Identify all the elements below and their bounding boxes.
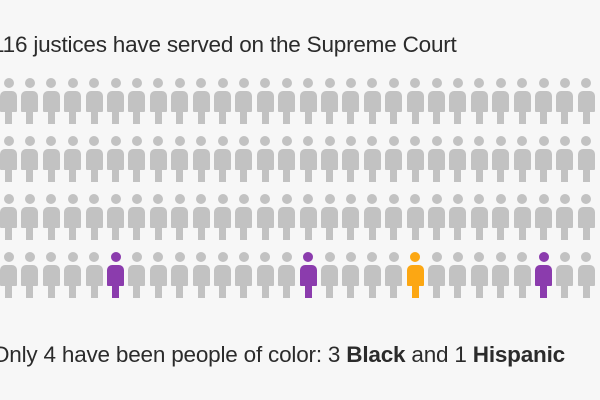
- figure-legs: [305, 167, 312, 182]
- figure-head: [132, 252, 142, 262]
- figure-legs: [283, 225, 290, 240]
- figure-legs: [91, 283, 98, 298]
- figure-legs: [69, 167, 76, 182]
- figure-head: [46, 78, 56, 88]
- figure-legs: [390, 109, 397, 124]
- pictogram-figure: [43, 136, 60, 188]
- pictogram-figure: [107, 78, 124, 130]
- pictogram-figure: [556, 136, 573, 188]
- pictogram-figure: [449, 78, 466, 130]
- figure-legs: [219, 167, 226, 182]
- figure-legs: [497, 109, 504, 124]
- pictogram-figure: [128, 136, 145, 188]
- pictogram-figure: [385, 78, 402, 130]
- pictogram-figure: [21, 252, 38, 304]
- pictogram-figure: [214, 136, 231, 188]
- pictogram-figure: [556, 194, 573, 246]
- figure-legs: [390, 167, 397, 182]
- pictogram-figure: [321, 136, 338, 188]
- figure-head: [25, 136, 35, 146]
- figure-legs: [519, 109, 526, 124]
- pictogram-figure: [449, 252, 466, 304]
- figure-head: [517, 136, 527, 146]
- pictogram-figure: [0, 78, 17, 130]
- pictogram-figure: [514, 194, 531, 246]
- pictogram-figure: [64, 252, 81, 304]
- pictogram-figure: [107, 194, 124, 246]
- figure-legs: [390, 225, 397, 240]
- pictogram-figure: [0, 252, 17, 304]
- figure-legs: [198, 109, 205, 124]
- figure-legs: [69, 109, 76, 124]
- caption-middle: and 1: [405, 342, 472, 367]
- figure-legs: [133, 225, 140, 240]
- figure-legs: [454, 225, 461, 240]
- figure-head: [196, 136, 206, 146]
- figure-head: [453, 252, 463, 262]
- figure-head: [346, 78, 356, 88]
- pictogram-figure: [492, 78, 509, 130]
- pictogram-figure: [385, 136, 402, 188]
- figure-head: [560, 136, 570, 146]
- figure-legs: [133, 283, 140, 298]
- figure-head: [260, 194, 270, 204]
- figure-legs: [262, 283, 269, 298]
- figure-legs: [155, 109, 162, 124]
- pictogram-figure: [107, 252, 124, 304]
- figure-head: [474, 252, 484, 262]
- figure-legs: [433, 167, 440, 182]
- figure-legs: [433, 283, 440, 298]
- figure-head: [196, 194, 206, 204]
- figure-legs: [48, 167, 55, 182]
- figure-head: [111, 194, 121, 204]
- figure-legs: [583, 167, 590, 182]
- pictogram-figure: [407, 194, 424, 246]
- pictogram-figure: [193, 136, 210, 188]
- pictogram-figure: [128, 78, 145, 130]
- figure-head: [367, 252, 377, 262]
- pictogram-figure: [578, 252, 595, 304]
- figure-head: [4, 252, 14, 262]
- pictogram-figure: [86, 252, 103, 304]
- legend-label-black: Black: [346, 342, 405, 367]
- figure-legs: [454, 283, 461, 298]
- caption-prefix: Only 4 have been people of color: 3: [0, 342, 346, 367]
- figure-legs: [305, 109, 312, 124]
- pictogram-figure: [407, 252, 424, 304]
- pictogram-figure: [193, 252, 210, 304]
- figure-head: [196, 252, 206, 262]
- figure-legs: [561, 109, 568, 124]
- figure-head: [560, 194, 570, 204]
- pictogram-figure: [235, 194, 252, 246]
- figure-legs: [198, 283, 205, 298]
- pictogram-figure: [0, 136, 17, 188]
- pictogram-figure: [171, 194, 188, 246]
- pictogram-figure: [150, 136, 167, 188]
- figure-head: [325, 78, 335, 88]
- pictogram-figure: [43, 78, 60, 130]
- figure-legs: [198, 225, 205, 240]
- figure-head: [389, 194, 399, 204]
- pictogram-figure: [171, 136, 188, 188]
- figure-legs: [412, 283, 419, 298]
- figure-head: [539, 194, 549, 204]
- figure-legs: [240, 225, 247, 240]
- pictogram-figure: [535, 194, 552, 246]
- figure-legs: [476, 225, 483, 240]
- pictogram-figure: [64, 78, 81, 130]
- pictogram-figure: [86, 194, 103, 246]
- figure-legs: [69, 225, 76, 240]
- figure-head: [196, 78, 206, 88]
- figure-legs: [412, 167, 419, 182]
- figure-head: [4, 78, 14, 88]
- figure-legs: [326, 283, 333, 298]
- figure-head: [218, 136, 228, 146]
- figure-head: [539, 136, 549, 146]
- figure-legs: [347, 283, 354, 298]
- figure-head: [432, 252, 442, 262]
- figure-legs: [240, 109, 247, 124]
- figure-head: [25, 78, 35, 88]
- figure-legs: [112, 283, 119, 298]
- pictogram-figure: [21, 194, 38, 246]
- figure-head: [111, 252, 121, 262]
- pictogram-figure: [43, 252, 60, 304]
- figure-head: [517, 78, 527, 88]
- figure-legs: [176, 167, 183, 182]
- legend-label-hispanic: Hispanic: [473, 342, 565, 367]
- figure-legs: [48, 109, 55, 124]
- pictogram-figure: [364, 252, 381, 304]
- pictogram-figure: [300, 136, 317, 188]
- figure-legs: [454, 109, 461, 124]
- figure-legs: [26, 225, 33, 240]
- figure-legs: [155, 225, 162, 240]
- pictogram-figure: [193, 194, 210, 246]
- figure-legs: [305, 283, 312, 298]
- figure-head: [474, 136, 484, 146]
- figure-legs: [583, 109, 590, 124]
- pictogram-row: [0, 252, 600, 310]
- figure-legs: [262, 167, 269, 182]
- figure-legs: [91, 167, 98, 182]
- figure-head: [153, 194, 163, 204]
- pictogram-figure: [535, 78, 552, 130]
- figure-head: [389, 136, 399, 146]
- pictogram-figure: [364, 194, 381, 246]
- figure-head: [282, 78, 292, 88]
- pictogram-figure: [278, 136, 295, 188]
- figure-head: [432, 194, 442, 204]
- figure-legs: [176, 109, 183, 124]
- figure-legs: [305, 225, 312, 240]
- figure-legs: [176, 225, 183, 240]
- figure-legs: [369, 225, 376, 240]
- figure-legs: [133, 167, 140, 182]
- figure-head: [325, 252, 335, 262]
- pictogram-figure: [492, 136, 509, 188]
- infographic-root: 116 justices have served on the Supreme …: [0, 0, 600, 400]
- figure-legs: [369, 283, 376, 298]
- figure-head: [111, 78, 121, 88]
- figure-head: [581, 252, 591, 262]
- pictogram-figure: [257, 136, 274, 188]
- figure-head: [346, 252, 356, 262]
- chart-caption: Only 4 have been people of color: 3 Blac…: [0, 340, 600, 370]
- figure-head: [325, 194, 335, 204]
- figure-head: [496, 78, 506, 88]
- pictogram-figure: [321, 252, 338, 304]
- pictogram-figure: [364, 136, 381, 188]
- figure-legs: [347, 225, 354, 240]
- figure-head: [453, 78, 463, 88]
- figure-head: [89, 136, 99, 146]
- figure-legs: [476, 109, 483, 124]
- figure-legs: [48, 225, 55, 240]
- figure-head: [367, 194, 377, 204]
- pictogram-figure: [235, 78, 252, 130]
- figure-legs: [5, 225, 12, 240]
- figure-head: [175, 194, 185, 204]
- figure-head: [25, 194, 35, 204]
- figure-legs: [540, 109, 547, 124]
- pictogram-figure: [364, 78, 381, 130]
- pictogram-figure: [428, 78, 445, 130]
- figure-legs: [262, 109, 269, 124]
- pictogram-figure: [578, 194, 595, 246]
- figure-legs: [412, 225, 419, 240]
- figure-legs: [155, 167, 162, 182]
- figure-legs: [219, 225, 226, 240]
- pictogram-figure: [514, 136, 531, 188]
- figure-head: [46, 136, 56, 146]
- figure-legs: [155, 283, 162, 298]
- pictogram-figure: [514, 78, 531, 130]
- figure-legs: [69, 283, 76, 298]
- pictogram-figure: [342, 252, 359, 304]
- figure-legs: [5, 167, 12, 182]
- figure-head: [410, 194, 420, 204]
- pictogram-figure: [86, 78, 103, 130]
- figure-head: [111, 136, 121, 146]
- pictogram-figure: [471, 252, 488, 304]
- figure-legs: [26, 167, 33, 182]
- figure-head: [46, 252, 56, 262]
- figure-legs: [326, 225, 333, 240]
- figure-legs: [48, 283, 55, 298]
- pictogram-figure: [171, 252, 188, 304]
- figure-legs: [433, 225, 440, 240]
- figure-legs: [240, 283, 247, 298]
- figure-head: [303, 136, 313, 146]
- figure-legs: [5, 283, 12, 298]
- pictogram-figure: [278, 252, 295, 304]
- pictogram-figure: [535, 136, 552, 188]
- figure-legs: [540, 283, 547, 298]
- figure-head: [175, 78, 185, 88]
- figure-legs: [112, 225, 119, 240]
- figure-head: [496, 252, 506, 262]
- figure-head: [68, 136, 78, 146]
- pictogram-figure: [342, 136, 359, 188]
- figure-legs: [369, 167, 376, 182]
- figure-legs: [540, 225, 547, 240]
- pictogram-figure: [21, 78, 38, 130]
- figure-head: [346, 194, 356, 204]
- figure-head: [367, 78, 377, 88]
- figure-legs: [454, 167, 461, 182]
- figure-legs: [283, 283, 290, 298]
- figure-head: [367, 136, 377, 146]
- figure-head: [496, 194, 506, 204]
- figure-legs: [369, 109, 376, 124]
- figure-legs: [561, 225, 568, 240]
- pictogram-figure: [171, 78, 188, 130]
- figure-head: [175, 136, 185, 146]
- pictogram-figure: [214, 194, 231, 246]
- figure-head: [282, 194, 292, 204]
- pictogram-figure: [385, 252, 402, 304]
- figure-legs: [176, 283, 183, 298]
- pictogram-figure: [449, 194, 466, 246]
- figure-head: [4, 136, 14, 146]
- pictogram-figure: [128, 252, 145, 304]
- figure-legs: [26, 109, 33, 124]
- figure-head: [539, 252, 549, 262]
- figure-legs: [476, 167, 483, 182]
- pictogram-figure: [578, 136, 595, 188]
- figure-legs: [219, 109, 226, 124]
- figure-head: [474, 194, 484, 204]
- figure-head: [410, 252, 420, 262]
- pictogram-figure: [471, 78, 488, 130]
- pictogram-figure: [150, 194, 167, 246]
- figure-head: [218, 194, 228, 204]
- pictogram-figure: [321, 78, 338, 130]
- figure-head: [282, 136, 292, 146]
- figure-head: [46, 194, 56, 204]
- pictogram-figure: [407, 78, 424, 130]
- figure-head: [496, 136, 506, 146]
- pictogram-figure: [300, 252, 317, 304]
- figure-head: [581, 194, 591, 204]
- figure-head: [25, 252, 35, 262]
- figure-head: [303, 252, 313, 262]
- figure-head: [346, 136, 356, 146]
- pictogram-figure: [514, 252, 531, 304]
- figure-legs: [347, 109, 354, 124]
- pictogram-figure: [428, 252, 445, 304]
- figure-legs: [583, 283, 590, 298]
- figure-legs: [390, 283, 397, 298]
- figure-head: [260, 252, 270, 262]
- pictogram-figure: [321, 194, 338, 246]
- figure-legs: [519, 283, 526, 298]
- pictogram-figure: [214, 78, 231, 130]
- pictogram-figure: [556, 78, 573, 130]
- figure-head: [581, 78, 591, 88]
- figure-head: [175, 252, 185, 262]
- figure-legs: [412, 109, 419, 124]
- figure-head: [410, 78, 420, 88]
- figure-legs: [561, 167, 568, 182]
- figure-head: [410, 136, 420, 146]
- figure-legs: [326, 167, 333, 182]
- pictogram-figure: [449, 136, 466, 188]
- pictogram-figure: [214, 252, 231, 304]
- pictogram-chart: [0, 78, 600, 326]
- figure-head: [560, 252, 570, 262]
- page-title: 116 justices have served on the Supreme …: [0, 30, 600, 60]
- pictogram-figure: [0, 194, 17, 246]
- figure-legs: [519, 225, 526, 240]
- figure-head: [432, 136, 442, 146]
- figure-legs: [133, 109, 140, 124]
- figure-head: [303, 194, 313, 204]
- figure-head: [89, 194, 99, 204]
- pictogram-figure: [342, 194, 359, 246]
- figure-head: [474, 78, 484, 88]
- pictogram-figure: [535, 252, 552, 304]
- figure-legs: [476, 283, 483, 298]
- figure-head: [132, 194, 142, 204]
- figure-head: [453, 194, 463, 204]
- figure-legs: [540, 167, 547, 182]
- figure-head: [517, 194, 527, 204]
- pictogram-figure: [193, 78, 210, 130]
- figure-head: [153, 78, 163, 88]
- figure-head: [239, 136, 249, 146]
- figure-head: [239, 194, 249, 204]
- figure-head: [153, 136, 163, 146]
- figure-head: [303, 78, 313, 88]
- pictogram-figure: [556, 252, 573, 304]
- figure-legs: [519, 167, 526, 182]
- pictogram-figure: [150, 78, 167, 130]
- figure-head: [581, 136, 591, 146]
- figure-legs: [112, 109, 119, 124]
- pictogram-figure: [257, 252, 274, 304]
- figure-legs: [583, 225, 590, 240]
- pictogram-figure: [43, 194, 60, 246]
- pictogram-figure: [492, 252, 509, 304]
- pictogram-figure: [150, 252, 167, 304]
- pictogram-figure: [128, 194, 145, 246]
- figure-legs: [283, 109, 290, 124]
- figure-head: [68, 194, 78, 204]
- figure-legs: [283, 167, 290, 182]
- pictogram-figure: [64, 194, 81, 246]
- pictogram-figure: [471, 136, 488, 188]
- pictogram-figure: [64, 136, 81, 188]
- pictogram-figure: [578, 78, 595, 130]
- pictogram-figure: [342, 78, 359, 130]
- figure-legs: [26, 283, 33, 298]
- pictogram-figure: [278, 194, 295, 246]
- figure-head: [153, 252, 163, 262]
- figure-head: [517, 252, 527, 262]
- figure-head: [89, 252, 99, 262]
- pictogram-figure: [300, 194, 317, 246]
- pictogram-figure: [385, 194, 402, 246]
- figure-head: [68, 78, 78, 88]
- figure-head: [218, 252, 228, 262]
- figure-legs: [219, 283, 226, 298]
- pictogram-figure: [300, 78, 317, 130]
